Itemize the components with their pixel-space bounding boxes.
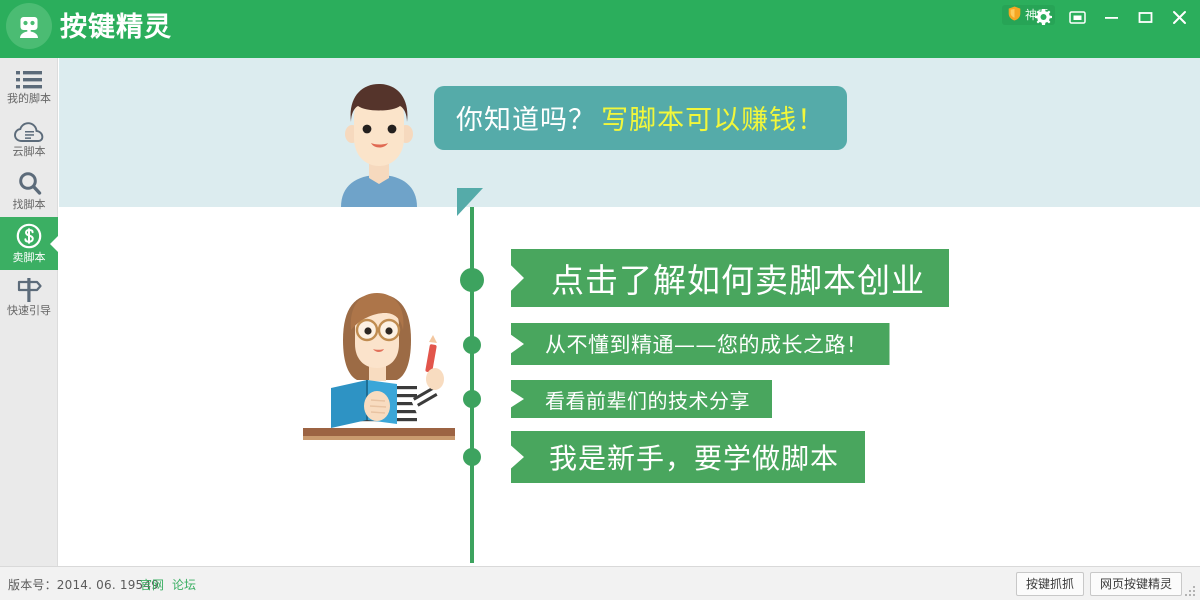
shield-icon <box>1008 6 1021 25</box>
timeline-dot <box>463 448 481 466</box>
sidebar: 我的脚本 云脚本 找脚本 <box>0 58 58 566</box>
app-title: 按键精灵 <box>60 10 172 46</box>
key-capture-button[interactable]: 按键抓抓 <box>1016 572 1084 596</box>
banner-label: 从不懂到精通——您的成长之路！ <box>545 329 868 359</box>
gear-icon <box>1035 9 1052 26</box>
sidebar-item-cloud-scripts[interactable]: 云脚本 <box>0 111 58 164</box>
minimize-icon <box>1103 12 1120 22</box>
sidebar-item-label: 快速引导 <box>7 304 51 317</box>
status-bar: 版本号：2014. 06. 19549 官网 论坛 按键抓抓 网页按键精灵 <box>0 566 1200 600</box>
minimize-to-tray-button[interactable] <box>1060 0 1094 34</box>
banner-beginner-learn[interactable]: 我是新手，要学做脚本 <box>511 431 865 483</box>
official-site-link[interactable]: 官网 <box>140 576 164 593</box>
web-key-wizard-button[interactable]: 网页按键精灵 <box>1090 572 1182 596</box>
banner-tech-sharing[interactable]: 看看前辈们的技术分享 <box>511 380 772 418</box>
bubble-text-plain: 你知道吗？ <box>456 105 596 136</box>
title-bar: 按键精灵 神盾 <box>0 0 1200 58</box>
sidebar-item-quick-guide[interactable]: 快速引导 <box>0 270 58 323</box>
maximize-button[interactable] <box>1128 0 1162 34</box>
cloud-icon <box>14 117 44 143</box>
timeline-line <box>470 207 474 563</box>
timeline-dot <box>460 268 484 292</box>
sidebar-item-find-scripts[interactable]: 找脚本 <box>0 164 58 217</box>
maximize-icon <box>1137 10 1154 25</box>
minimize-button[interactable] <box>1094 0 1128 34</box>
sidebar-item-sell-scripts[interactable]: 卖脚本 <box>0 217 58 270</box>
tray-icon <box>1069 10 1086 25</box>
banner-sell-script-startup[interactable]: 点击了解如何卖脚本创业 <box>511 249 949 307</box>
status-links: 官网 论坛 <box>140 576 196 593</box>
sidebar-item-label: 找脚本 <box>13 198 46 211</box>
girl-studying-illustration <box>289 280 469 440</box>
list-icon <box>16 64 42 90</box>
sidebar-item-label: 我的脚本 <box>7 92 51 105</box>
version-label: 版本号：2014. 06. 19549 <box>8 576 159 593</box>
sidebar-item-label: 卖脚本 <box>13 251 46 264</box>
banner-label: 看看前辈们的技术分享 <box>545 385 750 414</box>
banner-label: 点击了解如何卖脚本创业 <box>551 254 925 302</box>
close-button[interactable] <box>1162 0 1196 34</box>
sidebar-item-my-scripts[interactable]: 我的脚本 <box>0 58 58 111</box>
banner-label: 我是新手，要学做脚本 <box>549 437 839 477</box>
banner-growth-path[interactable]: 从不懂到精通——您的成长之路！ <box>511 323 890 365</box>
robot-icon <box>6 3 52 49</box>
status-buttons: 按键抓抓 网页按键精灵 <box>1016 572 1182 596</box>
dollar-circle-icon <box>16 223 42 249</box>
timeline-dot <box>463 336 481 354</box>
window-controls <box>1026 0 1196 34</box>
timeline-dot <box>463 390 481 408</box>
app-logo <box>6 3 52 49</box>
content-area: 你知道吗？ 写脚本可以赚钱！ <box>59 58 1200 566</box>
search-icon <box>17 170 42 196</box>
forum-link[interactable]: 论坛 <box>172 576 196 593</box>
speech-bubble: 你知道吗？ 写脚本可以赚钱！ <box>434 86 847 150</box>
resize-grip[interactable] <box>1185 586 1196 597</box>
application-window: 按键精灵 神盾 <box>0 0 1200 600</box>
bubble-text-highlight: 写脚本可以赚钱！ <box>601 105 825 136</box>
signpost-icon <box>15 276 43 302</box>
man-avatar-illustration <box>324 74 434 207</box>
close-icon <box>1171 10 1188 25</box>
settings-button[interactable] <box>1026 0 1060 34</box>
sidebar-item-label: 云脚本 <box>13 145 46 158</box>
